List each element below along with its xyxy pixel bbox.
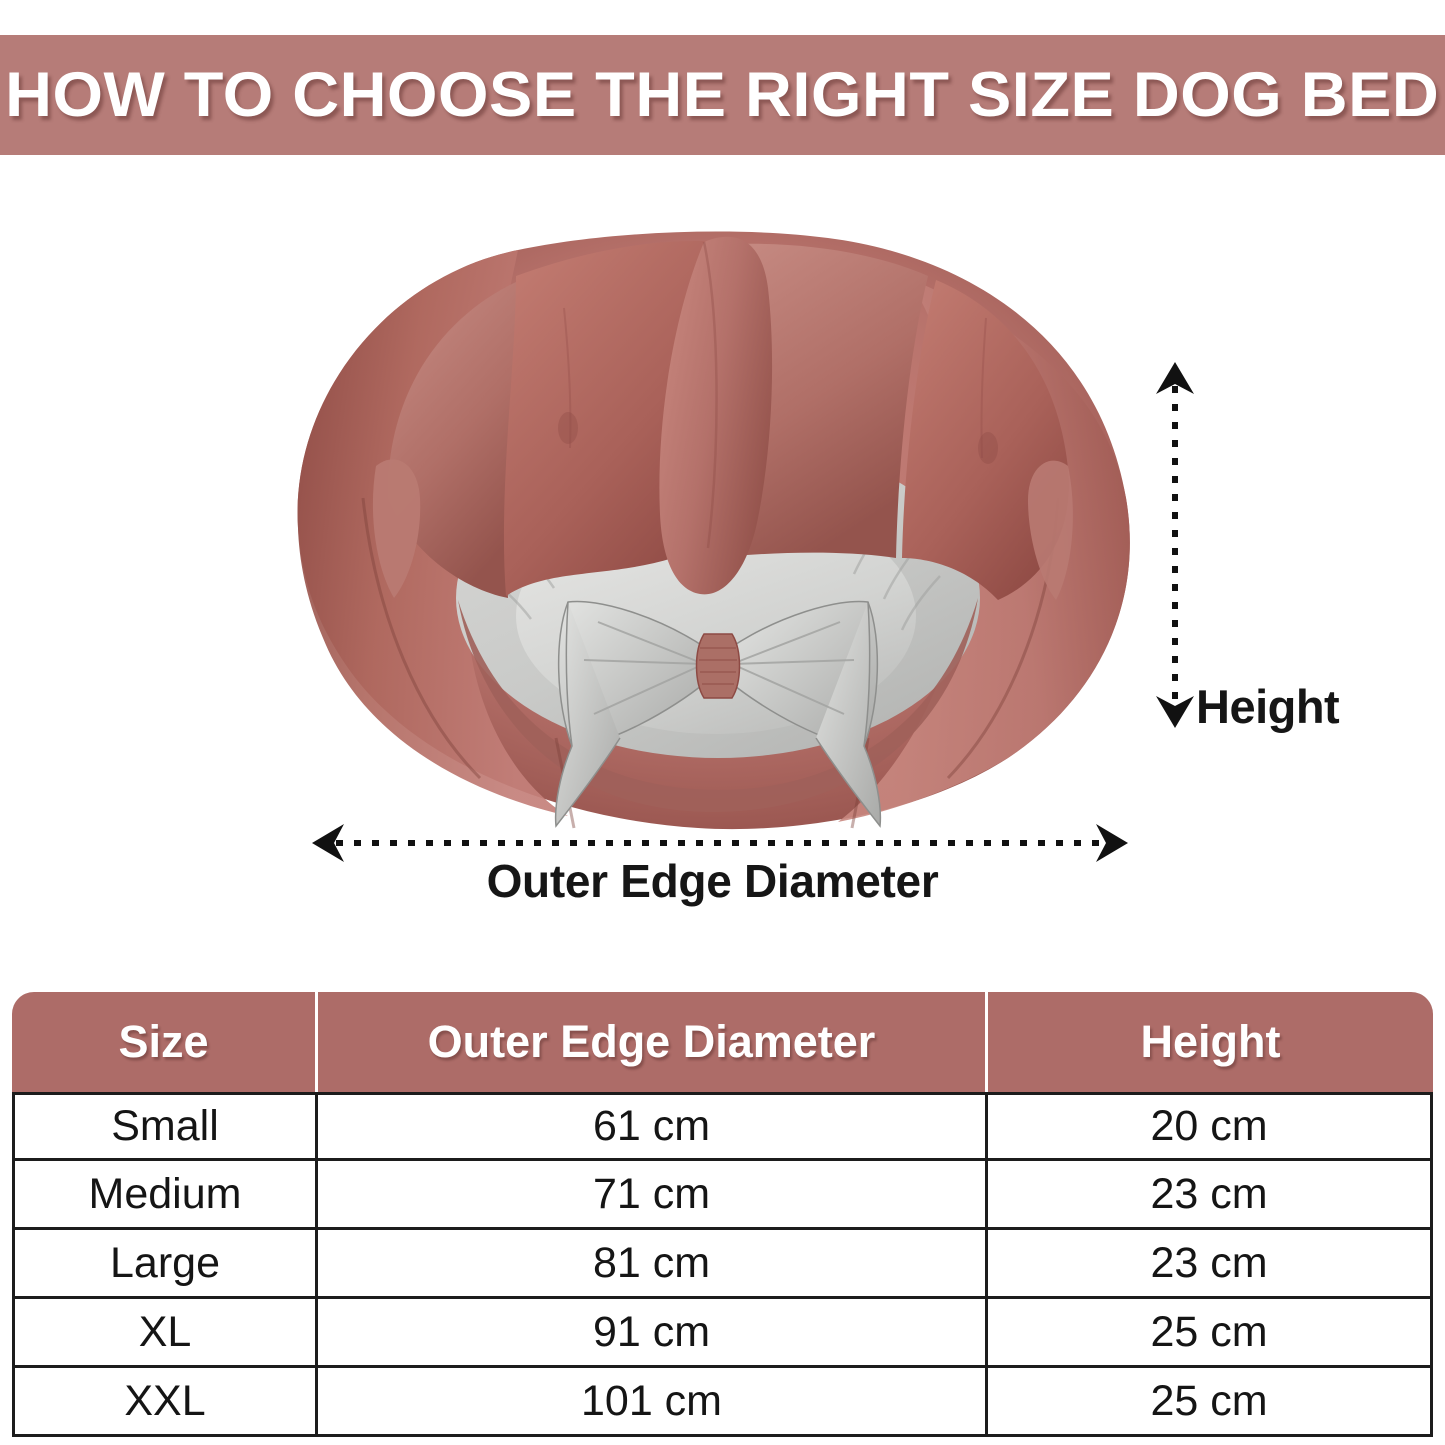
height-dimension-arrow (1150, 360, 1200, 730)
cell-size: Medium (12, 1161, 318, 1230)
product-illustration-area: Height Outer Edge Diameter (0, 160, 1445, 950)
cell-height: 23 cm (988, 1161, 1433, 1230)
table-row: Medium 71 cm 23 cm (12, 1161, 1433, 1230)
cell-height: 25 cm (988, 1368, 1433, 1437)
column-header-height: Height (988, 992, 1433, 1092)
bow-knot (697, 634, 740, 698)
cell-size: XL (12, 1299, 318, 1368)
column-header-size: Size (12, 992, 318, 1092)
cell-diameter: 81 cm (318, 1230, 988, 1299)
cell-height: 25 cm (988, 1299, 1433, 1368)
size-chart-table: Size Outer Edge Diameter Height Small 61… (12, 992, 1433, 1437)
table-row: XXL 101 cm 25 cm (12, 1368, 1433, 1437)
cell-size: XXL (12, 1368, 318, 1437)
page-title: HOW TO CHOOSE THE RIGHT SIZE DOG BED (5, 59, 1439, 131)
cell-diameter: 101 cm (318, 1368, 988, 1437)
cell-diameter: 61 cm (318, 1092, 988, 1161)
cell-diameter: 71 cm (318, 1161, 988, 1230)
height-dimension-label: Height (1196, 679, 1339, 734)
table-row: Small 61 cm 20 cm (12, 1092, 1433, 1161)
dog-bed-product-image (268, 198, 1158, 838)
cell-size: Large (12, 1230, 318, 1299)
cell-height: 20 cm (988, 1092, 1433, 1161)
table-row: XL 91 cm 25 cm (12, 1299, 1433, 1368)
table-header-row: Size Outer Edge Diameter Height (12, 992, 1433, 1092)
diameter-dimension-label: Outer Edge Diameter (0, 854, 1435, 908)
table-row: Large 81 cm 23 cm (12, 1230, 1433, 1299)
cell-height: 23 cm (988, 1230, 1433, 1299)
cell-size: Small (12, 1092, 318, 1161)
cell-diameter: 91 cm (318, 1299, 988, 1368)
header-banner: HOW TO CHOOSE THE RIGHT SIZE DOG BED (0, 35, 1445, 155)
column-header-diameter: Outer Edge Diameter (318, 992, 988, 1092)
